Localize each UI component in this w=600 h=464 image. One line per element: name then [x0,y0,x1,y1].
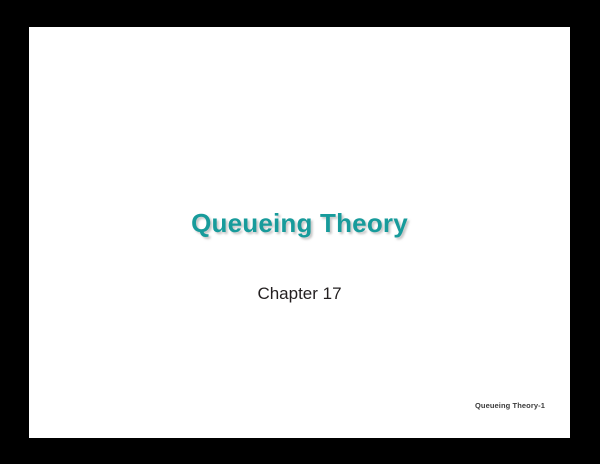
page-title: Queueing Theory [29,208,570,239]
slide-footer-label: Queueing Theory-1 [475,401,545,410]
screen-backdrop: Queueing Theory Chapter 17 Queueing Theo… [0,0,600,464]
slide-page: Queueing Theory Chapter 17 Queueing Theo… [29,27,570,438]
page-subtitle: Chapter 17 [29,284,570,304]
